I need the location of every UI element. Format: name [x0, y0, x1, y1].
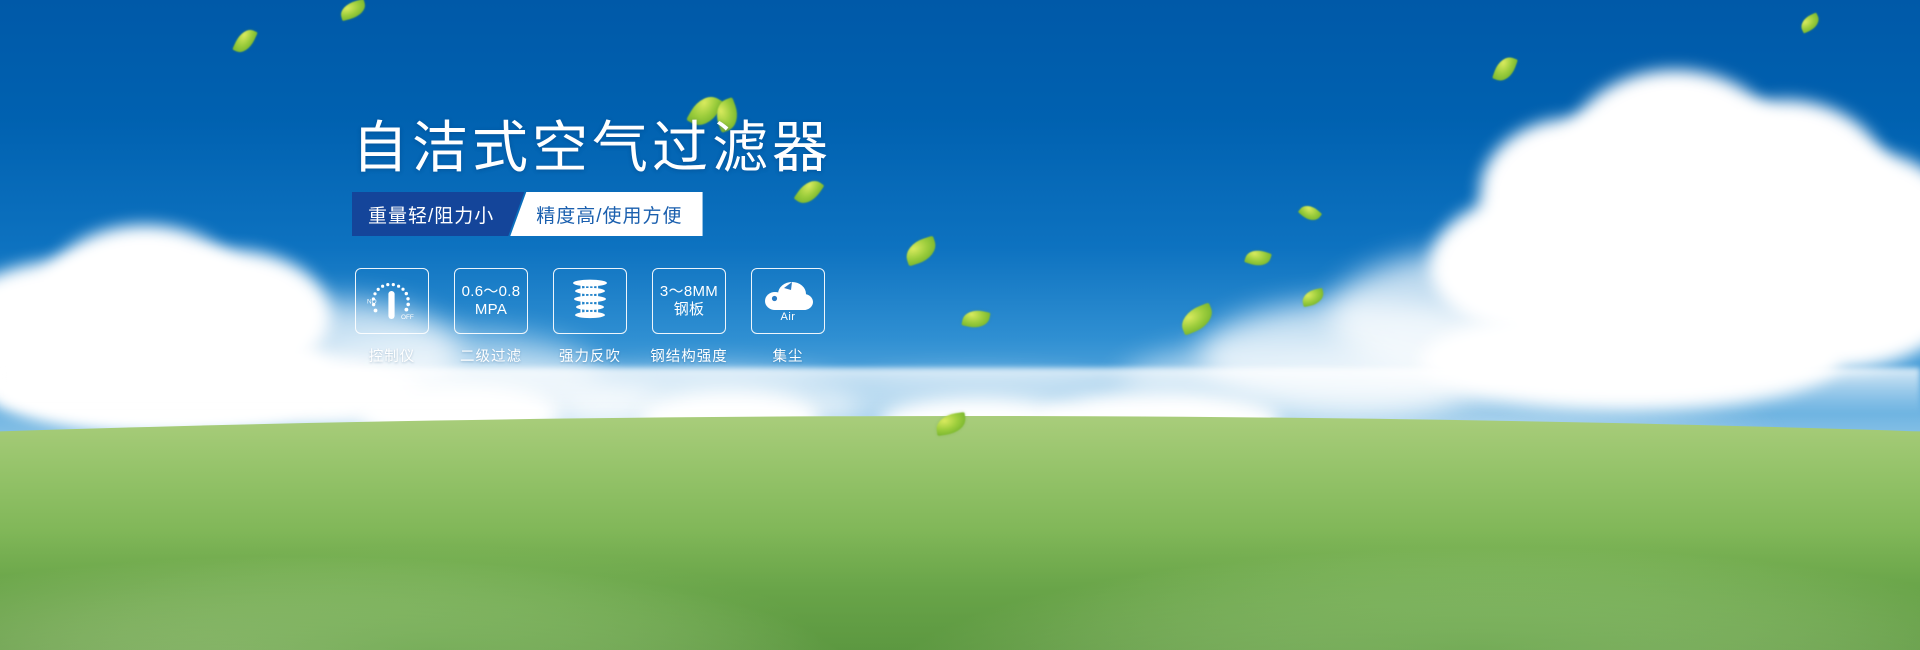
feature-steel-strength[interactable]: 3～8MM 钢板 钢结构强度 [653, 268, 725, 366]
product-banner: 自洁式空气过滤器 重量轻/阻力小 精度高/使用方便 [0, 0, 1920, 650]
feature-two-stage-filter-label: 二级过滤 [460, 345, 522, 366]
pressure-unit: MPA [475, 301, 507, 319]
tab-high-precision-easy-use[interactable]: 精度高/使用方便 [510, 192, 702, 236]
feature-strong-backblow-label: 强力反吹 [559, 345, 621, 366]
cloud-air-text: Air [781, 311, 796, 323]
feature-two-stage-filter-box[interactable]: 0.6～0.8 MPA [454, 268, 528, 334]
feature-dust-collection[interactable]: Air 集尘 [752, 268, 824, 366]
feature-steel-strength-box[interactable]: 3～8MM 钢板 [652, 268, 726, 334]
feature-dust-collection-box[interactable]: Air [751, 268, 825, 334]
feature-controller-label: 控制仪 [369, 345, 416, 366]
gauge-label-off: OFF [401, 314, 414, 321]
tab-lightweight-low-resistance[interactable]: 重量轻/阻力小 [352, 192, 524, 236]
cloud-air-icon [761, 279, 815, 313]
feature-controller-box[interactable]: NO OFF [355, 268, 429, 334]
gauge-icon: NO OFF [363, 276, 421, 326]
feature-two-stage-filter[interactable]: 0.6～0.8 MPA 二级过滤 [455, 268, 527, 366]
feature-icon-row: NO OFF 控制仪 0.6～0.8 MPA 二级过滤 [356, 268, 824, 366]
pressure-range-value: 0.6～0.8 [462, 283, 521, 301]
air-blast-icon [567, 276, 613, 326]
gauge-label-no: NO [367, 299, 377, 306]
steel-plate-label: 钢板 [674, 301, 705, 319]
feature-strong-backblow[interactable]: 强力反吹 [554, 268, 626, 366]
page-title: 自洁式空气过滤器 [352, 118, 832, 178]
steel-thickness-value: 3～8MM [660, 283, 718, 301]
feature-strong-backblow-box[interactable] [553, 268, 627, 334]
feature-controller[interactable]: NO OFF 控制仪 [356, 268, 428, 366]
feature-dust-collection-label: 集尘 [773, 345, 804, 366]
feature-steel-strength-label: 钢结构强度 [650, 345, 728, 366]
feature-tabs: 重量轻/阻力小 精度高/使用方便 [352, 192, 703, 236]
